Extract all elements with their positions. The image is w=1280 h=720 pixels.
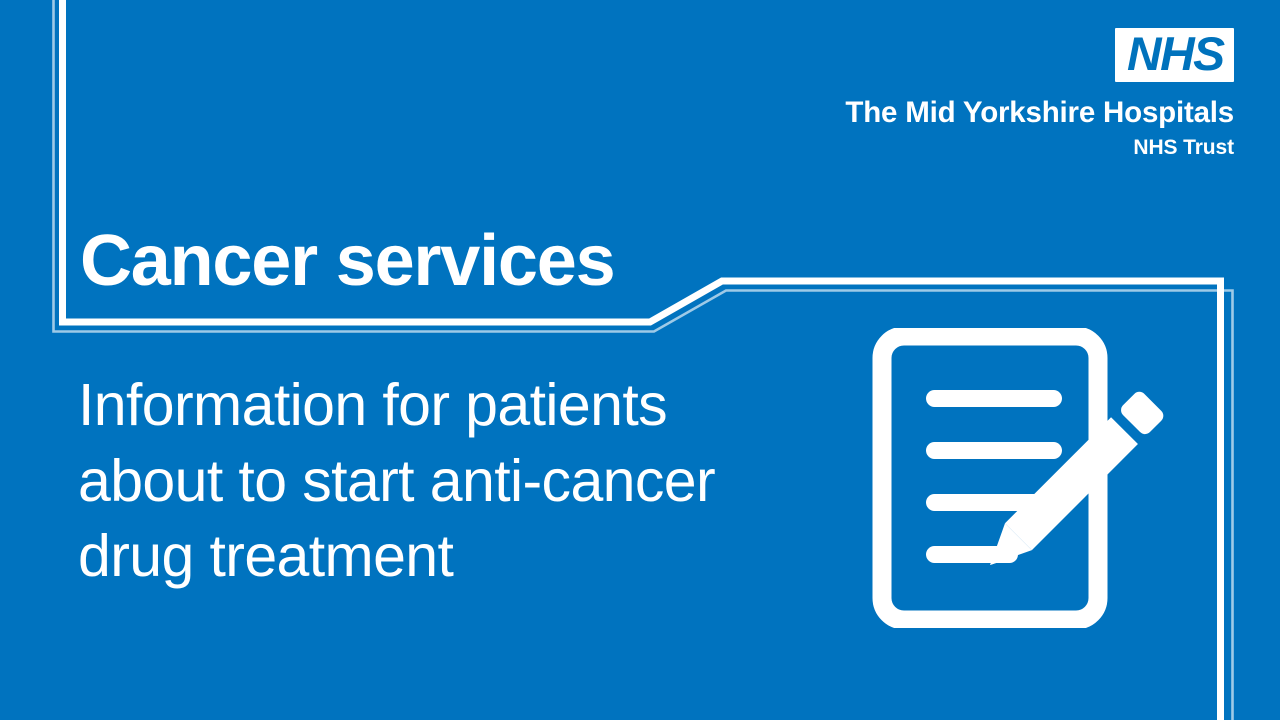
nhs-logo-group: NHS The Mid Yorkshire Hospitals NHS Trus…	[774, 28, 1234, 160]
trust-name-label: The Mid Yorkshire Hospitals	[774, 96, 1234, 130]
title-slide: NHS The Mid Yorkshire Hospitals NHS Trus…	[0, 0, 1280, 720]
document-with-pencil-icon	[868, 328, 1192, 628]
subtitle-line-1: Information for patients	[78, 368, 868, 444]
page-title: Cancer services	[80, 225, 614, 298]
trust-type-label: NHS Trust	[774, 136, 1234, 160]
subtitle-line-3: drug treatment	[78, 519, 868, 595]
nhs-logo-mark: NHS	[1115, 28, 1234, 82]
page-subtitle: Information for patients about to start …	[78, 368, 868, 595]
subtitle-line-2: about to start anti-cancer	[78, 444, 868, 520]
nhs-logo-text: NHS	[1127, 32, 1224, 77]
